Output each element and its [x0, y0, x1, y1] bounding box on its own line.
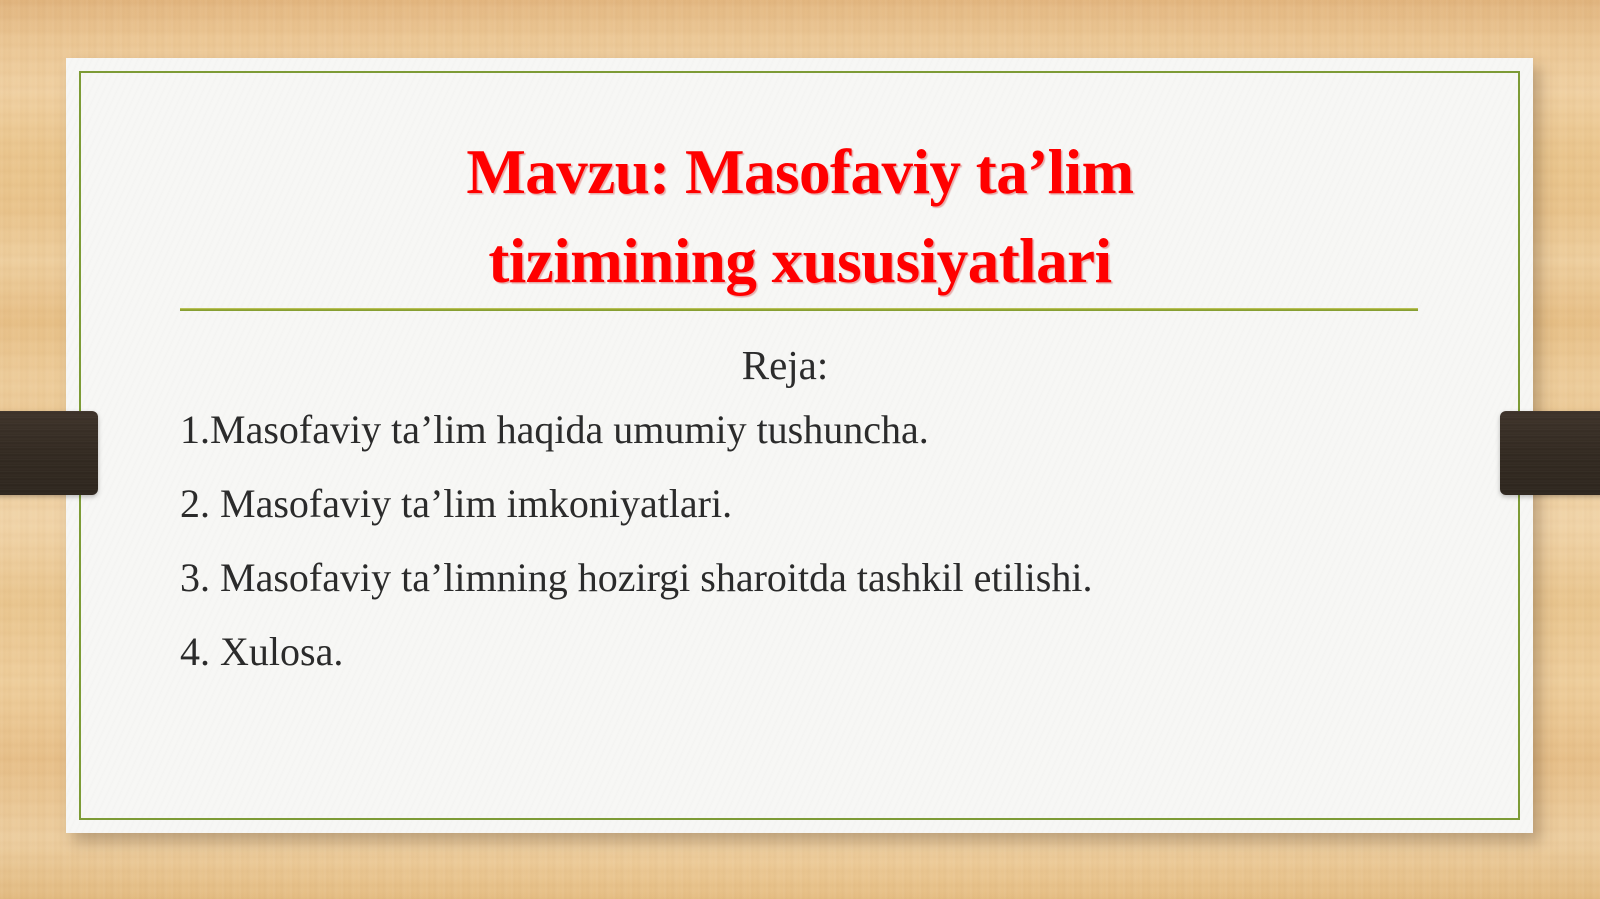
title-divider-rule — [180, 308, 1418, 311]
slide-content: Mavzu: Masofaviy ta’lim tizimining xusus… — [0, 0, 1600, 899]
slide-title: Mavzu: Masofaviy ta’lim tizimining xusus… — [180, 128, 1420, 307]
agenda-heading: Reja: — [180, 341, 1390, 390]
agenda-list-item: 4. Xulosa. — [180, 632, 1430, 672]
agenda-list-item: 2. Masofaviy ta’lim imkoniyatlari. — [180, 484, 1430, 524]
agenda-list-item: 1.Masofaviy ta’lim haqida umumiy tushunc… — [180, 410, 1430, 450]
slide-canvas: Mavzu: Masofaviy ta’lim tizimining xusus… — [0, 0, 1600, 899]
agenda-list-item: 3. Masofaviy ta’limning hozirgi sharoitd… — [180, 558, 1430, 598]
agenda-list: 1.Masofaviy ta’lim haqida umumiy tushunc… — [180, 410, 1430, 706]
